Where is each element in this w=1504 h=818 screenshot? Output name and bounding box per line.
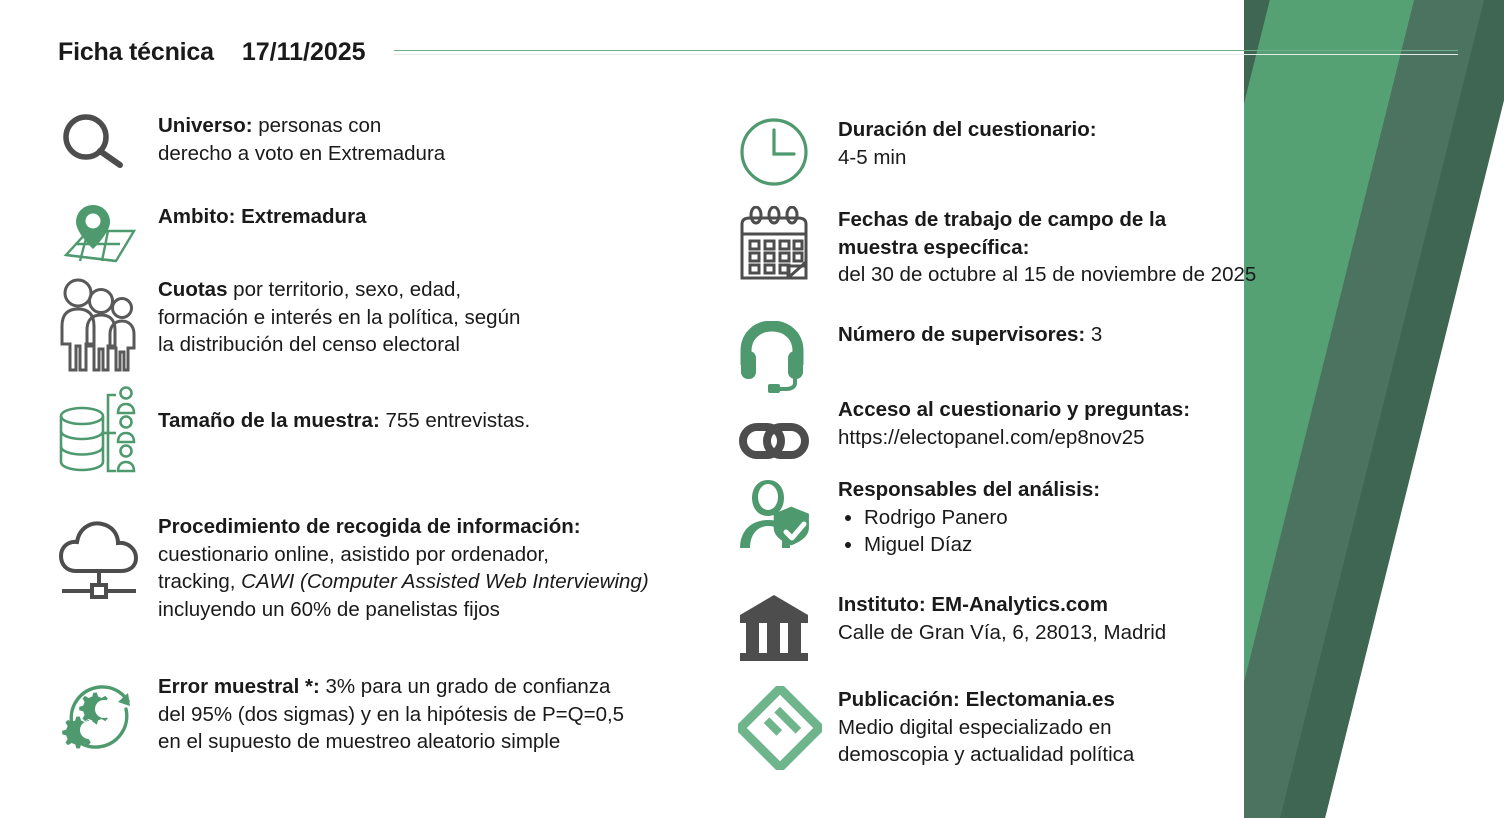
map-pin-icon	[58, 203, 158, 269]
row-fechas: Fechas de trabajo de campo de la muestra…	[738, 206, 1256, 289]
page-date: 17/11/2025	[242, 38, 366, 67]
error-muestral-line3: en el supuesto de muestreo aleatorio sim…	[158, 730, 560, 753]
universo-label: Universo:	[158, 114, 253, 137]
row-instituto: Instituto: EM-Analytics.com Calle de Gra…	[738, 591, 1166, 663]
electomania-diamond-icon	[738, 686, 838, 770]
supervisores-value: 3	[1085, 323, 1102, 346]
page-title: Ficha técnica	[58, 38, 214, 67]
person-shield-icon	[738, 476, 838, 552]
duracion-text: Duración del cuestionario: 4-5 min	[838, 116, 1097, 171]
gears-refresh-icon	[58, 673, 158, 763]
procedimiento-label: Procedimiento de recogida de información…	[158, 515, 581, 538]
row-publicacion: Publicación: Electomania.es Medio digita…	[738, 686, 1134, 770]
error-muestral-value: 3% para un grado de confianza	[320, 675, 611, 698]
ambito-label: Ambito: Extremadura	[158, 205, 366, 228]
row-cuotas: Cuotas por territorio, sexo, edad, forma…	[58, 276, 520, 372]
institution-icon	[738, 591, 838, 663]
calendar-icon	[738, 206, 838, 286]
instituto-line2: Calle de Gran Vía, 6, 28013, Madrid	[838, 621, 1166, 644]
link-chain-icon	[738, 396, 838, 464]
responsables-text: Responsables del análisis: Rodrigo Paner…	[838, 476, 1100, 559]
row-universo: Universo: personas con derecho a voto en…	[58, 112, 445, 174]
rule-green	[394, 50, 1458, 51]
row-ambito: Ambito: Extremadura	[58, 203, 366, 269]
procedimiento-line2-pre: tracking,	[158, 570, 241, 593]
acceso-url[interactable]: https://electopanel.com/ep8nov25	[838, 426, 1145, 449]
people-group-icon	[58, 276, 158, 372]
error-muestral-text: Error muestral *: 3% para un grado de co…	[158, 673, 624, 756]
list-item: Miguel Díaz	[864, 531, 1100, 559]
publicacion-line2: Medio digital especializado en	[838, 716, 1112, 739]
cuotas-text: Cuotas por territorio, sexo, edad, forma…	[158, 276, 520, 359]
duracion-label: Duración del cuestionario:	[838, 118, 1097, 141]
responsables-list: Rodrigo Panero Miguel Díaz	[838, 504, 1100, 559]
row-error-muestral: Error muestral *: 3% para un grado de co…	[58, 673, 624, 763]
publicacion-label: Publicación: Electomania.es	[838, 688, 1115, 711]
page-header: Ficha técnica 17/11/2025	[58, 38, 1458, 67]
row-supervisores: Número de supervisores: 3	[738, 321, 1102, 393]
fechas-label2: muestra específica:	[838, 236, 1029, 259]
cuotas-line2: formación e interés en la política, segú…	[158, 306, 520, 329]
procedimiento-cawi: CAWI (Computer Assisted Web Interviewing…	[241, 570, 648, 593]
responsables-label: Responsables del análisis:	[838, 478, 1100, 501]
publicacion-text: Publicación: Electomania.es Medio digita…	[838, 686, 1134, 769]
tamano-label: Tamaño de la muestra:	[158, 409, 380, 432]
row-procedimiento: Procedimiento de recogida de información…	[58, 513, 649, 623]
tamano-text: Tamaño de la muestra: 755 entrevistas.	[158, 383, 530, 435]
error-muestral-label: Error muestral *:	[158, 675, 320, 698]
universo-line2: derecho a voto en Extremadura	[158, 142, 445, 165]
fechas-label: Fechas de trabajo de campo de la	[838, 208, 1166, 231]
row-acceso-cuestionario: Acceso al cuestionario y preguntas: http…	[738, 396, 1190, 464]
cloud-network-icon	[58, 513, 158, 609]
tamano-value: 755 entrevistas.	[380, 409, 530, 432]
header-rules	[394, 48, 1458, 58]
publicacion-line3: demoscopia y actualidad política	[838, 743, 1134, 766]
acceso-text: Acceso al cuestionario y preguntas: http…	[838, 396, 1190, 451]
fechas-text: Fechas de trabajo de campo de la muestra…	[838, 206, 1256, 289]
acceso-label: Acceso al cuestionario y preguntas:	[838, 398, 1190, 421]
supervisores-text: Número de supervisores: 3	[838, 321, 1102, 349]
list-item: Rodrigo Panero	[864, 504, 1100, 532]
fechas-line2: del 30 de octubre al 15 de noviembre de …	[838, 263, 1256, 286]
universo-value: personas con	[253, 114, 382, 137]
universo-text: Universo: personas con derecho a voto en…	[158, 112, 445, 167]
rule-gray	[394, 54, 1458, 55]
procedimiento-text: Procedimiento de recogida de información…	[158, 513, 649, 623]
error-muestral-line2: del 95% (dos sigmas) y en la hipótesis d…	[158, 703, 624, 726]
duracion-line2: 4-5 min	[838, 146, 906, 169]
row-responsables: Responsables del análisis: Rodrigo Paner…	[738, 476, 1100, 559]
cuotas-label: Cuotas	[158, 278, 227, 301]
procedimiento-line1: cuestionario online, asistido por ordena…	[158, 543, 549, 566]
instituto-text: Instituto: EM-Analytics.com Calle de Gra…	[838, 591, 1166, 646]
clock-icon	[738, 116, 838, 188]
cuotas-value: por territorio, sexo, edad,	[227, 278, 461, 301]
logo-wordmark: Analytics	[1362, 744, 1480, 770]
instituto-label: Instituto: EM-Analytics.com	[838, 593, 1108, 616]
em-analytics-logo: Analytics	[1362, 684, 1480, 770]
supervisores-label: Número de supervisores:	[838, 323, 1085, 346]
database-sample-icon	[58, 383, 158, 483]
em-logo-mark	[1362, 684, 1472, 736]
row-duracion: Duración del cuestionario: 4-5 min	[738, 116, 1097, 188]
magnifier-icon	[58, 112, 158, 174]
row-tamano-muestra: Tamaño de la muestra: 755 entrevistas.	[58, 383, 530, 483]
procedimiento-line3: incluyendo un 60% de panelistas fijos	[158, 598, 500, 621]
cuotas-line3: la distribución del censo electoral	[158, 333, 460, 356]
ambito-text: Ambito: Extremadura	[158, 203, 366, 231]
headset-icon	[738, 321, 838, 393]
